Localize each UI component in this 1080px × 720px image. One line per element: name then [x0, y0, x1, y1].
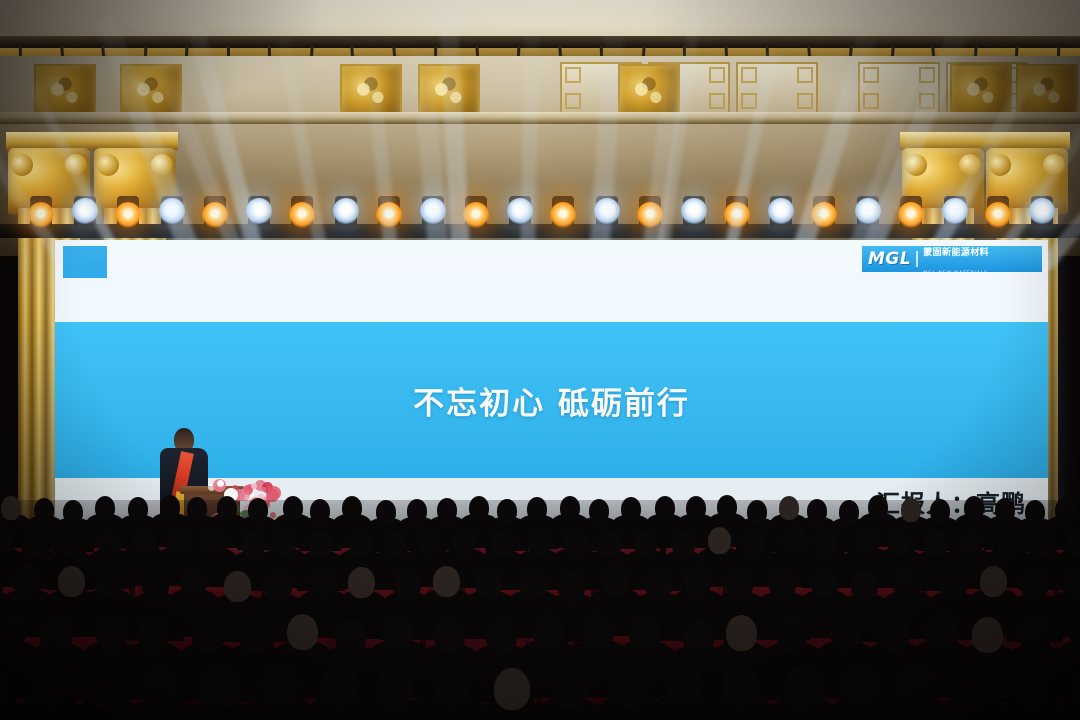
audience-head — [187, 497, 207, 521]
audience-head — [898, 665, 934, 707]
audience-head — [996, 528, 1019, 555]
audience-head — [887, 528, 910, 555]
spotlight-beam — [363, 53, 400, 270]
audience-head — [634, 530, 657, 557]
audience-head — [672, 531, 695, 558]
audience-head — [310, 499, 330, 523]
audience-head — [972, 617, 1003, 653]
audience-head — [32, 665, 68, 707]
logo-english-name: MGL NEW MATERIALS — [923, 271, 988, 276]
mgl-logo: MGL 蒙固新能源材料 MGL NEW MATERIALS — [862, 246, 1042, 272]
audience-head — [964, 496, 984, 520]
audience-head — [138, 615, 169, 651]
audience-area — [0, 500, 1080, 720]
audience-head — [202, 527, 225, 554]
audience-head — [486, 618, 517, 654]
audience-head — [783, 526, 806, 553]
audience-head — [349, 529, 372, 556]
spotlight-beam — [520, 31, 539, 270]
audience-head — [342, 496, 362, 520]
audience-head — [248, 498, 268, 522]
audience-head — [143, 668, 179, 710]
audience-head — [434, 663, 470, 705]
audience-head — [564, 528, 587, 555]
spotlight-beam — [277, 37, 331, 270]
audience-head — [193, 616, 224, 652]
auditorium-photo: MGL 蒙固新能源材料 MGL NEW MATERIALS 不忘初心 砥砺前行 … — [0, 0, 1080, 720]
audience-head — [726, 615, 757, 651]
audience-head — [924, 530, 947, 557]
audience-head — [925, 613, 956, 649]
audience-head — [142, 570, 169, 601]
logo-chinese-name: 蒙固新能源材料 — [923, 248, 989, 258]
audience-head — [434, 617, 465, 653]
audience-head — [376, 500, 396, 524]
audience-head — [980, 566, 1007, 597]
audience-head — [779, 496, 799, 520]
audience-head — [453, 527, 476, 554]
audience-head — [348, 567, 375, 598]
audience-head — [583, 613, 614, 649]
flower — [267, 486, 281, 500]
audience-head — [168, 526, 191, 553]
audience-head — [879, 615, 910, 651]
audience-head — [811, 567, 838, 598]
audience-head — [995, 498, 1015, 522]
audience-head — [769, 568, 796, 599]
audience-head — [684, 566, 711, 597]
audience-head — [96, 615, 127, 651]
audience-head — [128, 497, 148, 521]
audience-head — [844, 665, 880, 707]
audience-head — [217, 496, 237, 520]
audience-head — [785, 666, 821, 708]
audience-head — [520, 567, 547, 598]
audience-head — [58, 566, 85, 597]
audience-head — [309, 531, 332, 558]
audience-head — [683, 619, 714, 655]
audience-head — [433, 566, 460, 597]
logo-wordmark: MGL — [868, 249, 911, 269]
audience-head — [1032, 530, 1055, 557]
audience-head — [132, 526, 155, 553]
audience-head — [1021, 570, 1048, 601]
audience-head — [613, 665, 649, 707]
accent-square — [63, 246, 107, 278]
spotlight-beam — [720, 51, 778, 270]
audience-head — [602, 565, 629, 596]
audience-head — [708, 527, 731, 554]
audience-head — [742, 527, 765, 554]
audience-head — [868, 495, 888, 519]
audience-head — [34, 498, 54, 522]
audience-head — [63, 500, 83, 524]
audience-head — [224, 571, 251, 602]
audience-head — [1025, 500, 1045, 524]
audience-head — [830, 614, 861, 650]
audience-head — [851, 570, 878, 601]
audience-head — [894, 568, 921, 599]
audience-head — [180, 566, 207, 597]
audience-head — [666, 663, 702, 705]
audience-head — [14, 565, 41, 596]
audience-head — [560, 496, 580, 520]
audience-head — [283, 496, 303, 520]
audience-head — [956, 665, 992, 707]
audience-head — [491, 530, 514, 557]
audience-head — [273, 528, 296, 555]
audience-head — [533, 613, 564, 649]
light-beams — [0, 0, 1080, 270]
audience-head — [407, 499, 427, 523]
audience-head — [1014, 668, 1050, 710]
slide-header: MGL 蒙固新能源材料 MGL NEW MATERIALS — [55, 240, 1048, 322]
audience-head — [335, 619, 366, 655]
audience-head — [717, 495, 737, 519]
audience-head — [645, 569, 672, 600]
audience-head — [90, 667, 126, 709]
audience-head — [621, 497, 641, 521]
audience-head — [1055, 498, 1075, 522]
audience-head — [59, 529, 82, 556]
audience-head — [629, 614, 660, 650]
audience-head — [202, 668, 238, 710]
audience-head — [437, 498, 457, 522]
audience-head — [726, 569, 753, 600]
audience-head — [856, 527, 879, 554]
audience-head — [287, 614, 318, 650]
audience-head — [558, 571, 585, 602]
audience-head — [417, 527, 440, 554]
audience-head — [723, 664, 759, 706]
audience-head — [160, 495, 180, 519]
audience-head — [551, 666, 587, 708]
audience-head — [322, 664, 358, 706]
audience-head — [839, 500, 859, 524]
audience-head — [807, 499, 827, 523]
audience-head — [383, 613, 414, 649]
audience-head — [497, 499, 517, 523]
audience-head — [527, 497, 547, 521]
audience-head — [901, 498, 921, 522]
audience-head — [265, 571, 292, 602]
audience-head — [598, 530, 621, 557]
flower — [251, 483, 257, 489]
audience-head — [1020, 618, 1051, 654]
audience-head — [655, 496, 675, 520]
audience-head — [242, 531, 265, 558]
audience-head — [777, 615, 808, 651]
audience-head — [494, 668, 530, 710]
audience-head — [96, 565, 123, 596]
audience-head — [747, 500, 767, 524]
audience-head — [528, 530, 551, 557]
audience-head — [394, 569, 421, 600]
logo-text-block: 蒙固新能源材料 MGL NEW MATERIALS — [923, 240, 989, 278]
audience-head — [98, 529, 121, 556]
audience-head — [310, 567, 337, 598]
audience-head — [383, 530, 406, 557]
audience-head — [930, 499, 950, 523]
audience-head — [940, 569, 967, 600]
audience-head — [960, 528, 983, 555]
audience-head — [814, 527, 837, 554]
logo-divider — [916, 251, 918, 267]
audience-head — [469, 496, 489, 520]
audience-head — [239, 617, 270, 653]
audience-head — [377, 667, 413, 709]
audience-head — [95, 496, 115, 520]
audience-head — [42, 616, 73, 652]
audience-head — [1, 496, 21, 520]
spotlight-beam — [588, 32, 625, 270]
audience-head — [475, 567, 502, 598]
audience-head — [25, 529, 48, 556]
audience-head — [686, 496, 706, 520]
audience-head — [262, 664, 298, 706]
audience-head — [589, 499, 609, 523]
